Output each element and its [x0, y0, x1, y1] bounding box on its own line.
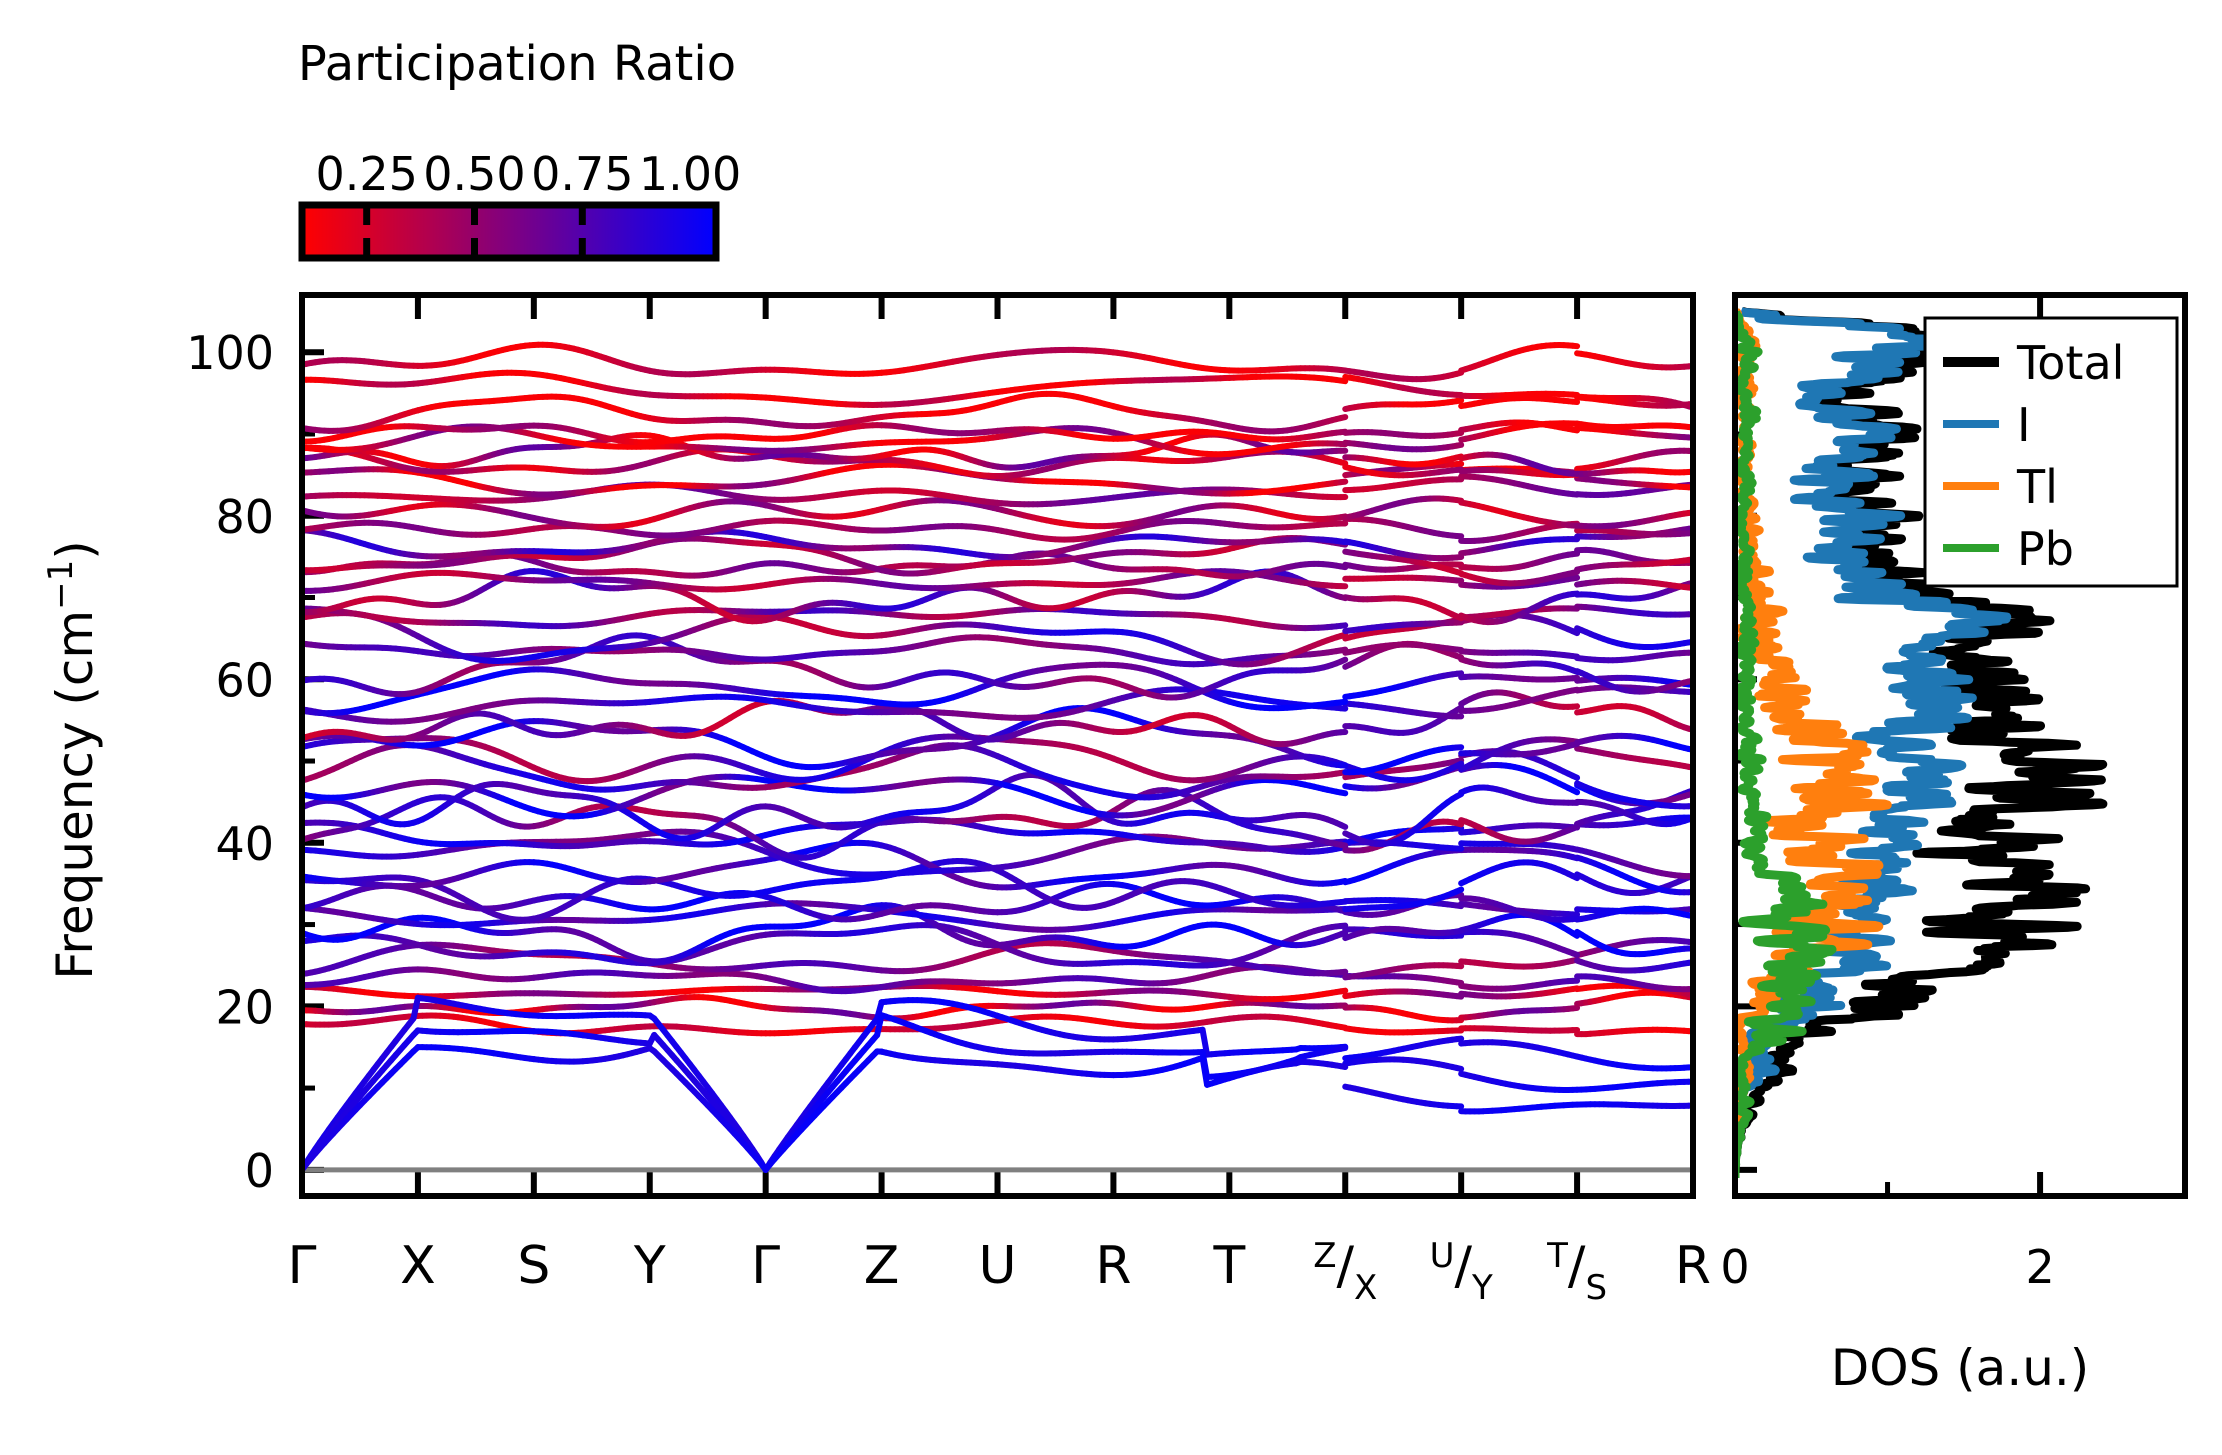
- band-xtick-label: Z/X: [1313, 1236, 1377, 1308]
- colorbar-tick-label: 0.25: [315, 147, 417, 201]
- band-segment: [1457, 889, 1461, 891]
- kpoint-denominator: Y: [1471, 1268, 1493, 1308]
- colorbar-tick-label: 1.00: [639, 147, 741, 201]
- band-xtick-label: R: [1675, 1236, 1711, 1296]
- band-segment: [1573, 827, 1577, 829]
- band-ylabel-superscript: −1: [41, 560, 81, 610]
- kpoint-numerator: Z: [1313, 1236, 1336, 1276]
- kpoint-slash: /: [1568, 1236, 1586, 1296]
- band-ylabel-close: ): [46, 540, 104, 560]
- kpoint-slash: /: [1454, 1236, 1472, 1296]
- band-xtick-label: Y: [633, 1236, 666, 1296]
- figure-canvas: 0.250.500.751.00Participation Ratio02040…: [0, 0, 2222, 1455]
- kpoint-denominator: X: [1354, 1268, 1377, 1308]
- band-segment: [1341, 933, 1345, 935]
- band-ylabel: Frequency (cm−1): [41, 540, 104, 980]
- band-xtick-label: Γ: [751, 1236, 780, 1296]
- band-ytick-label: 40: [215, 817, 274, 871]
- band-xtick-label: T/S: [1546, 1236, 1607, 1308]
- band-xtick-label: S: [517, 1236, 550, 1296]
- band-ylabel-base: Frequency (cm: [46, 610, 104, 980]
- band-xtick-label: U: [978, 1236, 1016, 1296]
- band-segment: [1457, 982, 1461, 983]
- band-xtick-label: T: [1212, 1236, 1245, 1296]
- kpoint-slash: /: [1336, 1236, 1354, 1296]
- phonon-figure: 0.250.500.751.00Participation Ratio02040…: [0, 0, 2222, 1455]
- band-xtick-label: R: [1095, 1236, 1131, 1296]
- colorbar-tick-label: 0.75: [531, 147, 633, 201]
- band-ytick-label: 20: [215, 980, 274, 1034]
- band-ytick-label: 0: [245, 1144, 274, 1198]
- colorbar-tick-label: 0.50: [423, 147, 525, 201]
- band-ytick-label: 80: [215, 490, 274, 544]
- band-segment: [1341, 991, 1345, 992]
- band-segment: [1341, 845, 1345, 846]
- band-segment: [1341, 825, 1345, 827]
- band-xtick-label: U/Y: [1430, 1236, 1493, 1308]
- band-segment: [1457, 823, 1461, 824]
- kpoint-numerator: T: [1546, 1236, 1568, 1276]
- band-xtick-label: X: [400, 1236, 436, 1296]
- kpoint-denominator: S: [1585, 1268, 1607, 1308]
- band-curve: [1461, 1028, 1577, 1030]
- band-segment: [1573, 1008, 1577, 1009]
- kpoint-numerator: U: [1430, 1236, 1455, 1276]
- colorbar-title: Participation Ratio: [298, 36, 736, 92]
- band-xtick-label: Γ: [288, 1236, 317, 1296]
- band-ytick-label: 100: [186, 326, 274, 380]
- band-segment: [1573, 953, 1577, 955]
- band-ytick-label: 60: [215, 653, 274, 707]
- band-xtick-label: Z: [864, 1236, 900, 1296]
